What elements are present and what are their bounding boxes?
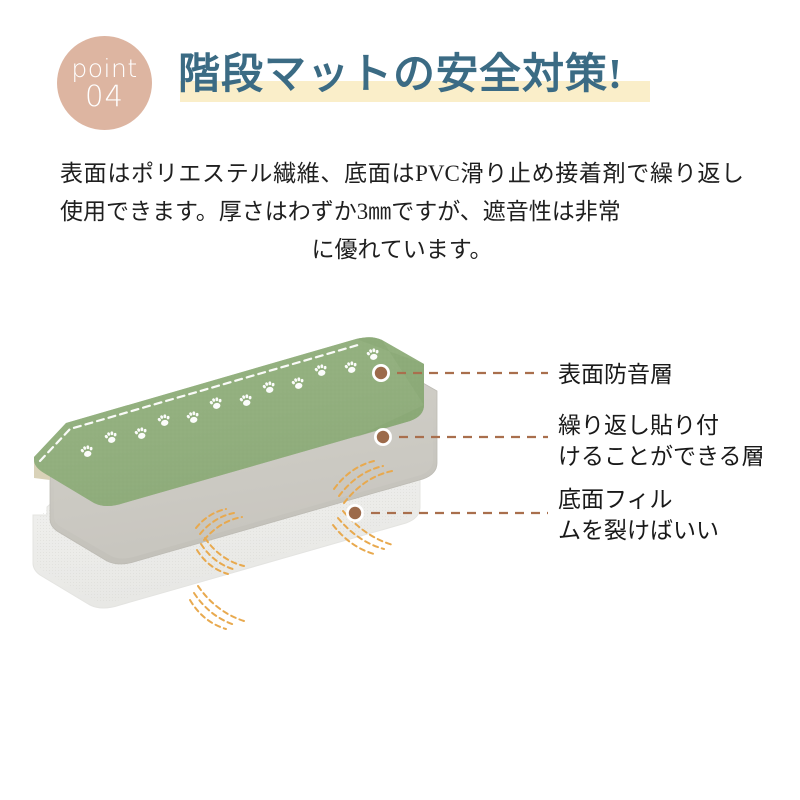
point-badge-number: 04 bbox=[85, 82, 124, 111]
leader-dot-film bbox=[349, 507, 361, 519]
lead-line-3: に優れています。 bbox=[60, 231, 744, 269]
callout-label-surface: 表面防音層 bbox=[558, 360, 673, 391]
lead-paragraph: 表面はポリエステル繊維、底面はPVC滑り止め接着剤で繰り返し使用できます。厚さは… bbox=[60, 155, 744, 270]
promo-page: point 04 階段マットの安全対策! 表面はポリエステル繊維、底面はPVC滑… bbox=[0, 0, 800, 800]
leader-dot-surface bbox=[375, 367, 387, 379]
point-badge: point 04 bbox=[57, 36, 152, 130]
lead-line-1: 表面はポリエステル繊維、底面はPVC滑り止め接着剤で繰り bbox=[60, 161, 697, 186]
leader-dot-reusable bbox=[377, 431, 389, 443]
callout-label-reusable: 繰り返し貼り付 けることができる層 bbox=[558, 411, 765, 473]
point-badge-word: point bbox=[71, 56, 137, 81]
page-title-wrap: 階段マットの安全対策! bbox=[178, 44, 623, 106]
page-title: 階段マットの安全対策! bbox=[178, 54, 623, 96]
callout-label-film: 底面フィル ムを裂けばいい bbox=[558, 485, 719, 547]
